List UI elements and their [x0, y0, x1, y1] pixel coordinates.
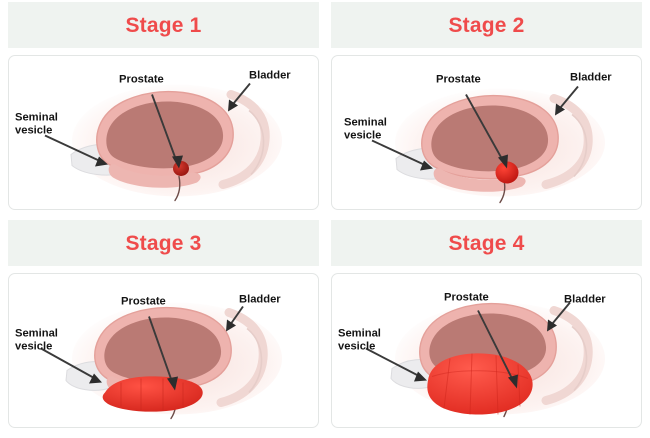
figure-card-1: Prostate Bladder Seminal vesicle	[8, 55, 319, 210]
anatomy-illustration-stage-2: Prostate Bladder Seminal vesicle	[332, 56, 641, 209]
stage-header-4: Stage 4	[331, 220, 642, 266]
label-seminal-vesicle-line1: Seminal	[344, 117, 387, 129]
label-seminal-vesicle-line2: vesicle	[338, 341, 375, 353]
label-bladder: Bladder	[249, 70, 291, 82]
label-bladder: Bladder	[570, 72, 612, 84]
stage-panel-4: Stage 4	[331, 220, 642, 428]
stage-header-2: Stage 2	[331, 2, 642, 48]
stage-title-1: Stage 1	[125, 15, 201, 36]
label-prostate: Prostate	[436, 74, 481, 86]
label-prostate: Prostate	[444, 292, 489, 304]
label-prostate: Prostate	[119, 74, 164, 86]
stage-panel-3: Stage 3	[8, 220, 319, 428]
label-prostate: Prostate	[121, 296, 166, 308]
figure-card-4: Prostate Bladder Seminal vesicle	[331, 273, 642, 428]
anatomy-illustration-stage-3: Prostate Bladder Seminal vesicle	[9, 274, 318, 427]
anatomy-illustration-stage-1: Prostate Bladder Seminal vesicle	[9, 56, 318, 209]
figure-card-2: Prostate Bladder Seminal vesicle	[331, 55, 642, 210]
stages-grid: Stage 1	[0, 0, 650, 438]
tumor-stage-1	[173, 161, 189, 176]
stage-title-4: Stage 4	[448, 233, 524, 254]
label-bladder: Bladder	[239, 294, 281, 306]
stage-title-2: Stage 2	[448, 15, 524, 36]
stage-panel-1: Stage 1	[8, 2, 319, 210]
figure-card-3: Prostate Bladder Seminal vesicle	[8, 273, 319, 428]
stage-panel-2: Stage 2	[331, 2, 642, 210]
label-seminal-vesicle-line1: Seminal	[15, 112, 58, 124]
label-seminal-vesicle-line2: vesicle	[15, 125, 52, 137]
label-bladder: Bladder	[564, 294, 606, 306]
label-seminal-vesicle-line2: vesicle	[344, 130, 381, 142]
label-seminal-vesicle-line2: vesicle	[15, 341, 52, 353]
stage-header-3: Stage 3	[8, 220, 319, 266]
stage-header-1: Stage 1	[8, 2, 319, 48]
label-seminal-vesicle-line1: Seminal	[338, 328, 381, 340]
stage-title-3: Stage 3	[125, 233, 201, 254]
anatomy-illustration-stage-4: Prostate Bladder Seminal vesicle	[332, 274, 641, 427]
label-seminal-vesicle-line1: Seminal	[15, 328, 58, 340]
